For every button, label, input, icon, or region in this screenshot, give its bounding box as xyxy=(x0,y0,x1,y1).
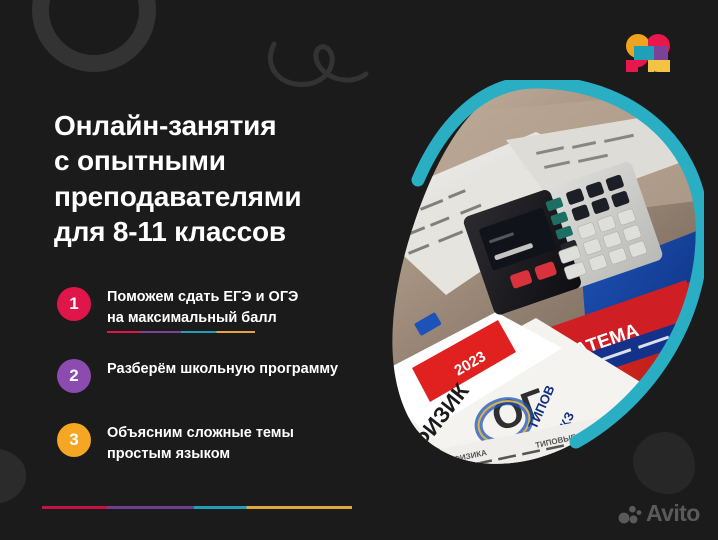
list-item: 2 Разберём школьную программу xyxy=(57,357,387,397)
avito-logo-icon xyxy=(618,503,642,525)
benefit-text: Разберём школьную программу xyxy=(107,359,338,380)
benefits-list: 1 Поможем сдать ЕГЭ и ОГЭ на максимальны… xyxy=(57,285,387,488)
benefit-accent-underline xyxy=(107,331,255,333)
decorative-blob-left xyxy=(0,448,26,504)
benefit-number-badge: 2 xyxy=(57,359,91,393)
online-lessons-ad-banner: 36 36 МАТЕМА xyxy=(0,0,718,540)
avito-wordmark: Avito xyxy=(646,500,700,527)
avito-watermark: Avito xyxy=(618,500,700,527)
benefit-number-badge: 3 xyxy=(57,423,91,457)
brand-logo-icon xyxy=(624,31,672,75)
page-title: Онлайн-занятия с опытными преподавателям… xyxy=(54,108,384,249)
list-item: 3 Объясним сложные темы простым языком xyxy=(57,421,387,464)
benefit-text: Поможем сдать ЕГЭ и ОГЭ на максимальный … xyxy=(107,287,298,328)
accent-rule xyxy=(42,506,352,509)
benefit-number-badge: 1 xyxy=(57,287,91,321)
decorative-squiggle-shape xyxy=(268,38,388,90)
benefit-text: Объясним сложные темы простым языком xyxy=(107,423,294,464)
list-item: 1 Поможем сдать ЕГЭ и ОГЭ на максимальны… xyxy=(57,285,387,333)
decorative-ring-shape xyxy=(32,0,156,72)
hero-photo: 36 36 МАТЕМА xyxy=(386,80,704,478)
